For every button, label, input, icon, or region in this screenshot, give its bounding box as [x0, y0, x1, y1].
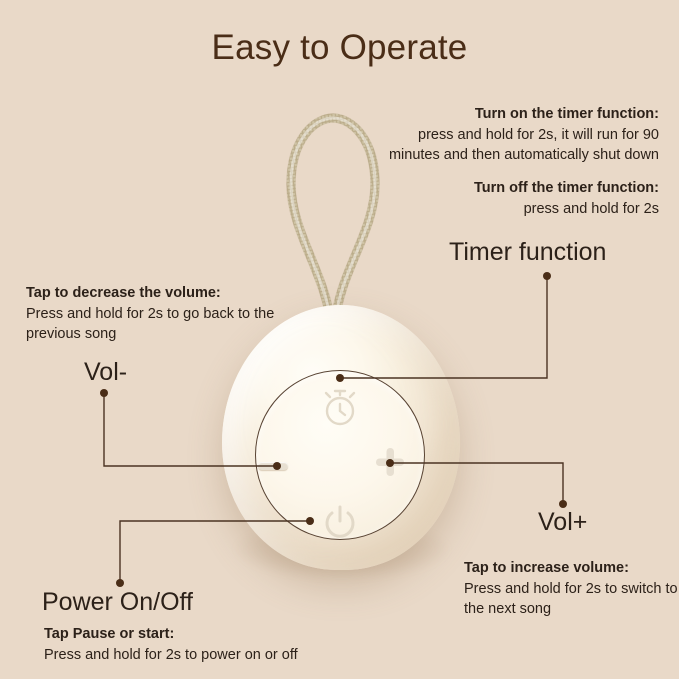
timer-callout-label: Timer function	[449, 238, 606, 267]
volume-up-note: Tap to increase volume: Press and hold f…	[464, 558, 679, 620]
volume-down-note: Tap to decrease the volume: Press and ho…	[26, 283, 276, 345]
timer-note-off-heading: Turn off the timer function:	[379, 178, 659, 199]
timer-note-on: Turn on the timer function: press and ho…	[379, 104, 659, 166]
volume-up-note-body: Press and hold for 2s to switch to the n…	[464, 579, 679, 620]
timer-leader-line	[330, 268, 560, 386]
page-title: Easy to Operate	[0, 28, 679, 68]
timer-note-off: Turn off the timer function: press and h…	[379, 178, 659, 219]
volume-up-note-heading: Tap to increase volume:	[464, 558, 679, 579]
volume-down-callout-label: Vol-	[84, 358, 127, 387]
volume-up-leader-line	[382, 455, 572, 513]
timer-note-on-body: press and hold for 2s, it will run for 9…	[379, 125, 659, 166]
power-leader-line	[112, 513, 322, 591]
infographic-canvas: Easy to Operate	[0, 0, 679, 679]
volume-down-note-body: Press and hold for 2s to go back to the …	[26, 304, 276, 345]
stopwatch-icon[interactable]	[318, 386, 362, 428]
power-icon[interactable]	[320, 503, 360, 543]
timer-note-off-body: press and hold for 2s	[379, 199, 659, 220]
volume-down-note-heading: Tap to decrease the volume:	[26, 283, 276, 304]
power-note-heading: Tap Pause or start:	[44, 624, 334, 645]
timer-note-on-heading: Turn on the timer function:	[379, 104, 659, 125]
volume-down-leader-line	[96, 385, 286, 475]
power-callout-label: Power On/Off	[42, 588, 193, 617]
power-note-body: Press and hold for 2s to power on or off	[44, 645, 334, 666]
power-note: Tap Pause or start: Press and hold for 2…	[44, 624, 334, 665]
